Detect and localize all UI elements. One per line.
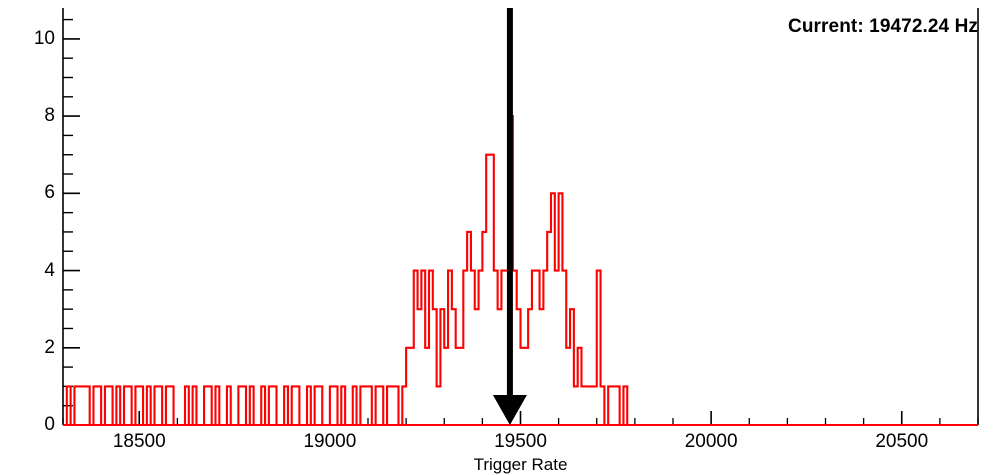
histogram-series — [63, 116, 978, 425]
x-axis-title: Trigger Rate — [474, 455, 568, 475]
x-tick-label-20000: 20000 — [685, 431, 738, 453]
axis-group — [63, 8, 978, 425]
x-tick-label-20500: 20500 — [875, 431, 928, 453]
current-rate-marker — [493, 8, 527, 425]
current-rate-text: Current: 19472.24 Hz — [788, 16, 978, 38]
y-tick-label-0: 0 — [44, 414, 55, 436]
y-tick-label-8: 8 — [44, 105, 55, 127]
y-tick-label-2: 2 — [44, 337, 55, 359]
root-canvas: Current: 19472.24 Hz 0246810 18500190001… — [0, 0, 996, 472]
y-tick-label-10: 10 — [34, 28, 55, 50]
x-tick-label-18500: 18500 — [113, 431, 166, 453]
histogram-plot — [0, 0, 996, 472]
x-tick-label-19500: 19500 — [494, 431, 547, 453]
x-tick-label-19000: 19000 — [303, 431, 356, 453]
y-tick-label-6: 6 — [44, 182, 55, 204]
y-tick-label-4: 4 — [44, 260, 55, 282]
